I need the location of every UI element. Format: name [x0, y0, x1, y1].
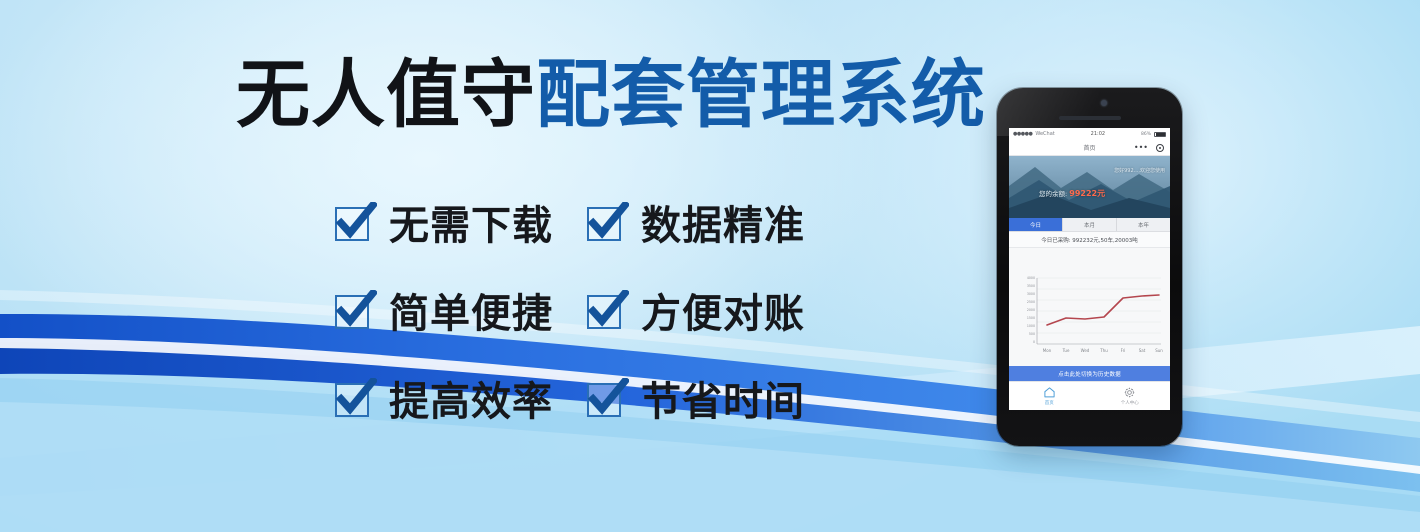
checkbox-checked-icon — [333, 202, 377, 242]
svg-text:Thu: Thu — [1099, 348, 1108, 353]
tabbar-item-profile[interactable]: 个人中心 — [1090, 382, 1171, 410]
feature-item: 节省时间 — [585, 354, 837, 442]
svg-text:Wed: Wed — [1081, 348, 1090, 353]
feature-item: 无需下载 — [333, 178, 585, 266]
checkbox-checked-icon — [585, 378, 629, 418]
checkbox-checked-icon — [585, 202, 629, 242]
battery-icon — [1154, 132, 1166, 137]
feature-label: 无需下载 — [389, 193, 553, 251]
feature-item: 简单便捷 — [333, 266, 585, 354]
svg-text:Mon: Mon — [1043, 348, 1052, 353]
signal-dots-icon: ●●●●● — [1013, 131, 1032, 137]
app-navbar: 首页 ••• — [1009, 140, 1170, 156]
page-title: 无人值守配套管理系统 — [236, 50, 986, 140]
feature-label: 数据精准 — [641, 193, 805, 251]
hero-balance: 您的余额: 99222元 — [1039, 188, 1105, 199]
mountain-illustration — [1009, 156, 1170, 218]
status-bar: ●●●●● WeChat 21:02 86% — [1009, 128, 1170, 140]
checkbox-checked-icon — [333, 290, 377, 330]
tabbar-label-profile: 个人中心 — [1121, 400, 1139, 406]
hero-banner: 您好992...,欢迎您使用 您的余额: 99222元 — [1009, 156, 1170, 218]
hero-balance-label: 您的余额: — [1039, 190, 1067, 198]
feature-item: 数据精准 — [585, 178, 837, 266]
tabbar-label-home: 首页 — [1045, 400, 1054, 406]
phone-screen: ●●●●● WeChat 21:02 86% 首页 ••• — [1009, 128, 1170, 410]
bottom-tabbar: 首页 个人中心 — [1009, 381, 1170, 410]
feature-label: 方便对账 — [641, 281, 805, 339]
checkbox-checked-icon — [585, 290, 629, 330]
tab-month[interactable]: 本月 — [1063, 218, 1117, 231]
hero-greeting: 您好992...,欢迎您使用 — [1114, 167, 1165, 174]
svg-text:4000: 4000 — [1027, 276, 1035, 280]
feature-label: 简单便捷 — [389, 281, 553, 339]
svg-text:3500: 3500 — [1027, 284, 1035, 288]
page-title-dark: 无人值守 — [236, 52, 536, 138]
checkbox-checked-icon — [333, 378, 377, 418]
history-toggle-button[interactable]: 点击此处切换为历史数据 — [1009, 366, 1170, 381]
svg-text:Sat: Sat — [1139, 348, 1146, 353]
summary-row: 今日已采购: 992232元,50车,20003吨 — [1009, 232, 1170, 248]
period-tabs: 今日 本月 本年 — [1009, 218, 1170, 232]
svg-text:2500: 2500 — [1027, 300, 1035, 304]
tabbar-item-home[interactable]: 首页 — [1009, 382, 1090, 410]
gear-icon — [1123, 386, 1136, 399]
svg-text:Sun: Sun — [1155, 348, 1163, 353]
ellipsis-icon[interactable]: ••• — [1134, 144, 1148, 152]
carrier-label: WeChat — [1035, 131, 1054, 137]
page-title-blue: 配套管理系统 — [536, 52, 986, 138]
feature-item: 方便对账 — [585, 266, 837, 354]
chart-svg: 40003500 30002500 20001500 1000500 0 Mon… — [1009, 248, 1170, 366]
target-circle-icon[interactable] — [1156, 144, 1164, 152]
svg-text:2000: 2000 — [1027, 308, 1035, 312]
svg-text:Fri: Fri — [1121, 348, 1126, 353]
phone-mockup: ●●●●● WeChat 21:02 86% 首页 ••• — [997, 88, 1182, 446]
svg-text:0: 0 — [1033, 340, 1035, 344]
feature-list: 无需下载 数据精准 简单便捷 方便对账 提高效率 — [333, 178, 837, 442]
svg-text:Tue: Tue — [1062, 348, 1070, 353]
hero-balance-value: 99222元 — [1069, 189, 1105, 198]
svg-text:3000: 3000 — [1027, 292, 1035, 296]
status-time: 21:02 — [1058, 131, 1138, 137]
tab-year[interactable]: 本年 — [1117, 218, 1170, 231]
tab-today[interactable]: 今日 — [1009, 218, 1063, 231]
feature-item: 提高效率 — [333, 354, 585, 442]
svg-text:500: 500 — [1029, 332, 1035, 336]
battery-percent: 86% — [1141, 132, 1151, 137]
front-camera-icon — [1101, 100, 1107, 106]
feature-label: 提高效率 — [389, 369, 553, 427]
feature-label: 节省时间 — [641, 369, 805, 427]
line-chart: 40003500 30002500 20001500 1000500 0 Mon… — [1009, 248, 1170, 366]
svg-text:1000: 1000 — [1027, 324, 1035, 328]
svg-text:1500: 1500 — [1027, 316, 1035, 320]
home-icon — [1043, 386, 1056, 399]
earpiece-speaker — [1059, 116, 1121, 120]
